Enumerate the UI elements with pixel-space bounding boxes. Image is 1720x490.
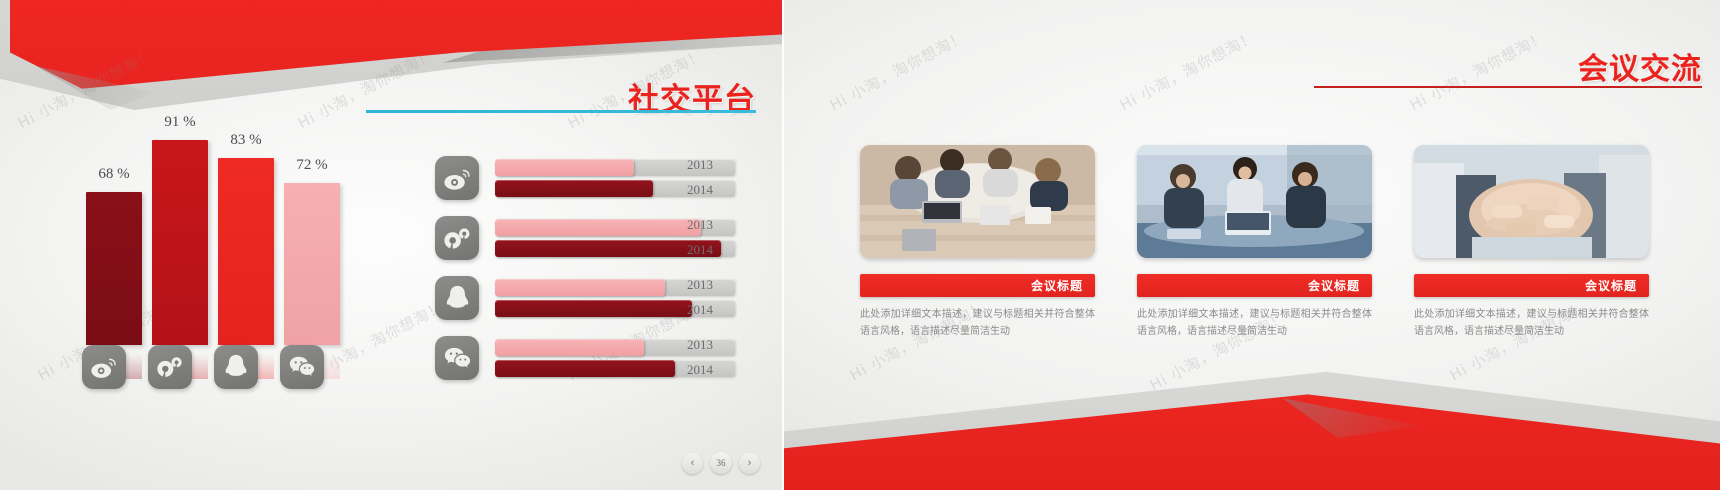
bar-wechat <box>284 183 340 345</box>
prev-page-button[interactable]: ‹ <box>682 453 703 474</box>
bar-column: 83 % <box>218 158 274 345</box>
year-label: 2013 <box>687 217 713 233</box>
year-label: 2013 <box>687 277 713 293</box>
two-slide-presentation-view: Hi 小淘，淘你想淘！ Hi 小淘，淘你想淘！ Hi 小淘，淘你想淘！ Hi 小… <box>0 0 1720 490</box>
year-label: 2014 <box>687 362 713 378</box>
qq-icon[interactable] <box>214 345 258 389</box>
watermark: Hi 小淘，淘你想淘！ <box>1116 26 1259 116</box>
card-caption: 会议标题 <box>860 274 1095 297</box>
bar-column: 68 % <box>86 192 142 345</box>
year-label: 2013 <box>687 337 713 353</box>
wechat-icon[interactable] <box>435 336 479 380</box>
progress-fill-2013 <box>495 219 701 236</box>
slide-meeting-exchange: Hi 小淘，淘你想淘！ Hi 小淘，淘你想淘！ Hi 小淘，淘你想淘！ Hi 小… <box>782 0 1720 490</box>
page-number: 36 <box>710 452 732 474</box>
bar-value-label: 83 % <box>230 132 261 149</box>
card-body-text: 此处添加详细文本描述，建议与标题相关并符合整体语言风格，语言描述尽量简洁生动 <box>1414 307 1649 340</box>
bar-weibo <box>86 192 142 345</box>
bar-column: 91 % <box>152 140 208 345</box>
bar-value-label: 68 % <box>98 166 129 183</box>
bar-qq <box>218 158 274 345</box>
progress-fill-2013 <box>495 279 665 296</box>
meeting-card: 会议标题 此处添加详细文本描述，建议与标题相关并符合整体语言风格，语言描述尽量简… <box>1414 145 1649 340</box>
card-caption: 会议标题 <box>1137 274 1372 297</box>
progress-row-qq: 2013 2014 <box>435 268 735 328</box>
next-page-button[interactable]: › <box>739 453 760 474</box>
watermark: Hi 小淘，淘你想淘！ <box>826 26 969 116</box>
weibo-icon[interactable] <box>82 345 126 389</box>
card-body-text: 此处添加详细文本描述，建议与标题相关并符合整体语言风格，语言描述尽量简洁生动 <box>860 307 1095 340</box>
watermark: Hi 小淘，淘你想淘！ <box>1406 26 1549 116</box>
wechat-icon[interactable] <box>280 345 324 389</box>
page-title: 会议交流 <box>1578 44 1702 88</box>
title-underline <box>1314 86 1702 88</box>
slide-social-platform: Hi 小淘，淘你想淘！ Hi 小淘，淘你想淘！ Hi 小淘，淘你想淘！ Hi 小… <box>0 0 782 490</box>
year-label: 2014 <box>687 242 713 258</box>
progress-row-wechat: 2013 2014 <box>435 328 735 388</box>
card-caption: 会议标题 <box>1414 274 1649 297</box>
teamwork-hands-photo <box>1414 145 1649 258</box>
renren-icon[interactable] <box>435 216 479 260</box>
pager: ‹ 36 › <box>682 452 760 474</box>
year-label: 2014 <box>687 182 713 198</box>
progress-fill-2013 <box>495 159 634 176</box>
renren-icon[interactable] <box>148 345 192 389</box>
qq-icon[interactable] <box>435 276 479 320</box>
slide-divider <box>782 0 784 490</box>
chart-category-icons <box>60 345 350 391</box>
meeting-card: 会议标题 此处添加详细文本描述，建议与标题相关并符合整体语言风格，语言描述尽量简… <box>860 145 1095 340</box>
progress-fill-2014 <box>495 300 692 317</box>
weibo-icon[interactable] <box>435 156 479 200</box>
progress-fill-2013 <box>495 339 644 356</box>
progress-fill-2014 <box>495 180 653 197</box>
bar-chart: 68 % 91 % 83 % 72 % <box>60 120 350 345</box>
bar-value-label: 91 % <box>164 114 195 131</box>
bar-value-label: 72 % <box>296 157 327 174</box>
bar-column: 72 % <box>284 183 340 345</box>
progress-row-weibo: 2013 2014 <box>435 148 735 208</box>
title-underline <box>366 110 756 113</box>
card-body-text: 此处添加详细文本描述，建议与标题相关并符合整体语言风格，语言描述尽量简洁生动 <box>1137 307 1372 340</box>
progress-chart: 2013 2014 2013 2014 <box>435 148 735 388</box>
bar-renren <box>152 140 208 345</box>
year-label: 2013 <box>687 157 713 173</box>
meeting-card-list: 会议标题 此处添加详细文本描述，建议与标题相关并符合整体语言风格，语言描述尽量简… <box>860 145 1650 340</box>
business-conference-photo <box>1137 145 1372 258</box>
progress-row-renren: 2013 2014 <box>435 208 735 268</box>
meeting-card: 会议标题 此处添加详细文本描述，建议与标题相关并符合整体语言风格，语言描述尽量简… <box>1137 145 1372 340</box>
progress-fill-2014 <box>495 360 675 377</box>
team-meeting-table-photo <box>860 145 1095 258</box>
year-label: 2014 <box>687 302 713 318</box>
